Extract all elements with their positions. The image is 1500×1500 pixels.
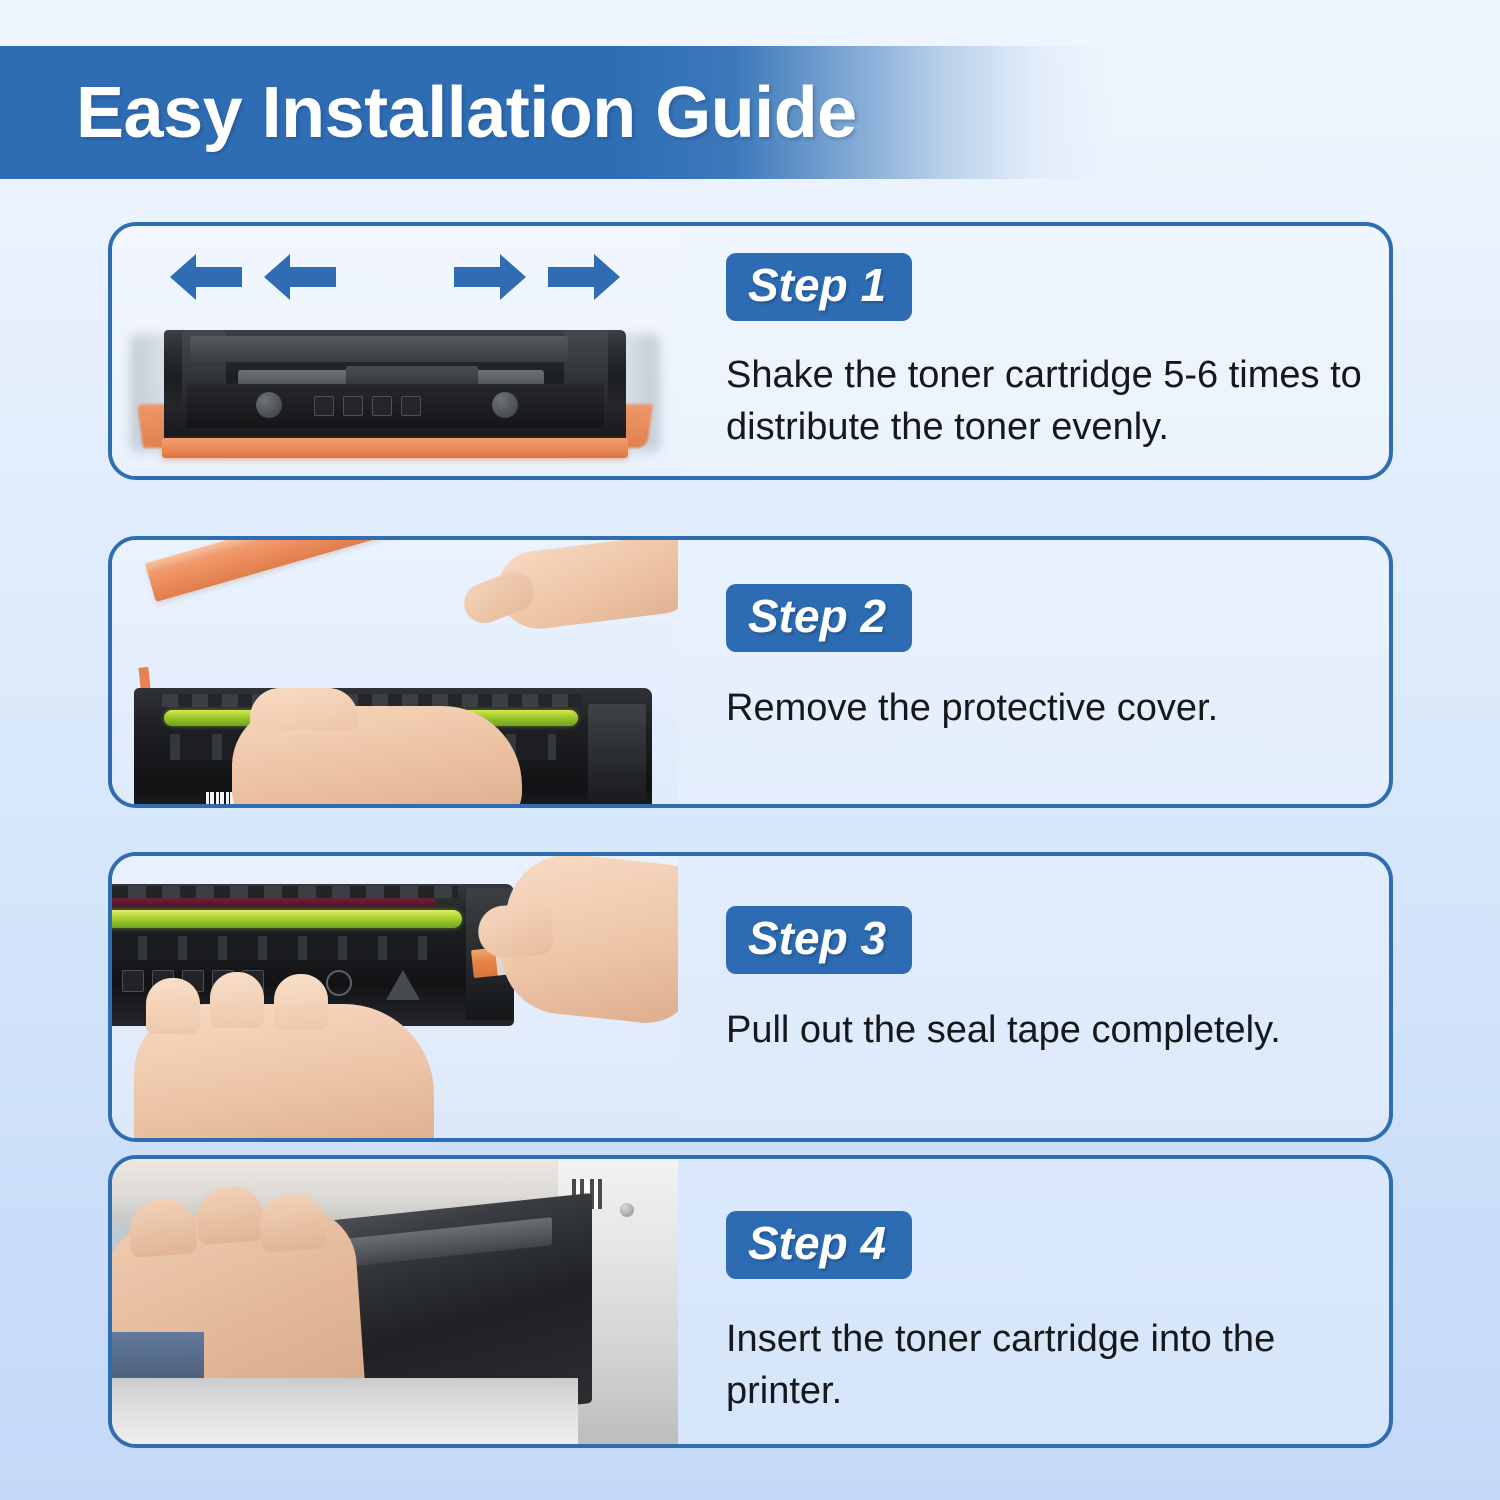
- arrow-right-icon: [548, 254, 620, 300]
- step-badge-4: Step 4: [726, 1211, 912, 1279]
- step-2-illustration: [112, 540, 678, 804]
- step-text-4: Insert the toner cartridge into the prin…: [726, 1313, 1366, 1417]
- step-badge-3: Step 3: [726, 906, 912, 974]
- arrow-left-icon: [264, 254, 336, 300]
- step-text-3: Pull out the seal tape completely.: [726, 1004, 1386, 1056]
- step-text-2: Remove the protective cover.: [726, 682, 1386, 734]
- header-banner: Easy Installation Guide: [0, 46, 1110, 179]
- step-badge-1: Step 1: [726, 253, 912, 321]
- toner-cartridge-graphic: [146, 330, 644, 458]
- screw-icon: [620, 1203, 634, 1217]
- pull-seal-tape-image: [112, 856, 678, 1138]
- hand-graphic-lower: [232, 706, 522, 804]
- arrow-up-icon: [386, 970, 420, 1000]
- step-card-4: Step 4 Insert the toner cartridge into t…: [108, 1155, 1393, 1448]
- hand-graphic-upper: [494, 540, 678, 633]
- step-1-illustration: [112, 226, 678, 476]
- step-2-body: Step 2 Remove the protective cover.: [678, 540, 1389, 804]
- page-title: Easy Installation Guide: [76, 72, 857, 154]
- shake-cartridge-image: [112, 226, 678, 476]
- arrow-right-icon: [454, 254, 526, 300]
- step-3-body: Step 3 Pull out the seal tape completely…: [678, 856, 1389, 1138]
- shake-arrows-group: [112, 254, 678, 300]
- insert-cartridge-image: [112, 1159, 678, 1444]
- step-4-body: Step 4 Insert the toner cartridge into t…: [678, 1159, 1389, 1444]
- step-1-body: Step 1 Shake the toner cartridge 5-6 tim…: [678, 226, 1389, 476]
- step-3-illustration: [112, 856, 678, 1138]
- step-text-1: Shake the toner cartridge 5-6 times to d…: [726, 349, 1366, 453]
- step-card-3: Step 3 Pull out the seal tape completely…: [108, 852, 1393, 1142]
- arrow-left-icon: [170, 254, 242, 300]
- step-card-1: Step 1 Shake the toner cartridge 5-6 tim…: [108, 222, 1393, 480]
- hand-graphic-pulling: [496, 856, 678, 1028]
- step-badge-2: Step 2: [726, 584, 912, 652]
- step-4-illustration: [112, 1159, 678, 1444]
- step-card-2: Step 2 Remove the protective cover.: [108, 536, 1393, 808]
- remove-cover-image: [112, 540, 678, 804]
- hand-graphic-holding: [134, 1004, 434, 1138]
